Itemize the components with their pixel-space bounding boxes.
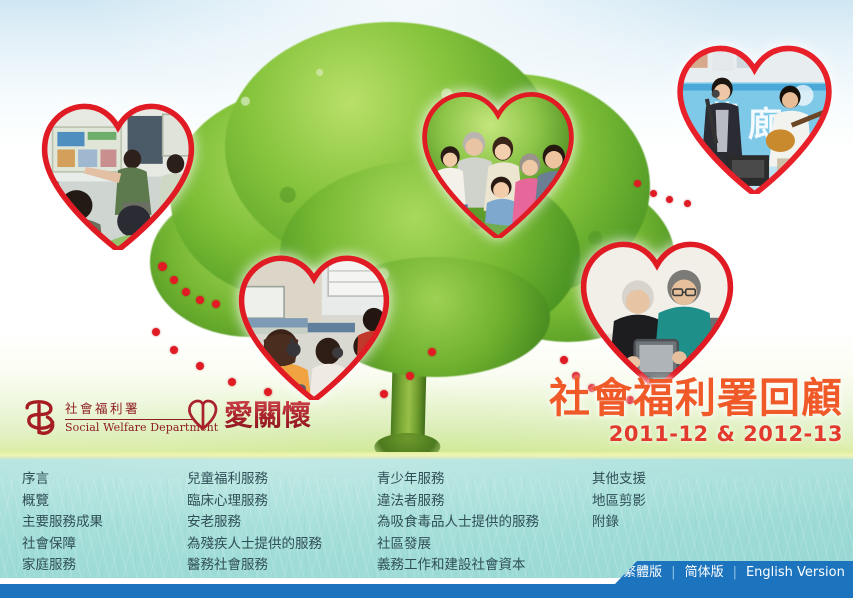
nav-link-preface[interactable]: 序言	[22, 469, 187, 491]
nav-link-community-development[interactable]: 社區發展	[377, 534, 592, 556]
heart-photo-computer-class[interactable]	[234, 252, 394, 400]
heart-frame-icon	[38, 100, 198, 250]
decor-dot	[152, 328, 160, 336]
decor-dot	[264, 388, 272, 396]
page-root: 藝 廊	[0, 0, 853, 598]
nav-link-family-services[interactable]: 家庭服務	[22, 555, 187, 577]
nav-link-youth-services[interactable]: 青少年服務	[377, 469, 592, 491]
hero-banner: 藝 廊	[0, 0, 853, 458]
page-title-block: 社會福利署回顧 2011-12 & 2012-13	[549, 378, 843, 446]
decor-dot	[428, 348, 436, 356]
decor-dot	[228, 378, 236, 386]
nav-link-district-gallery[interactable]: 地區剪影	[592, 491, 772, 513]
decor-dot	[380, 390, 388, 398]
decor-dot	[196, 362, 204, 370]
decor-dot	[158, 262, 167, 271]
page-title-years: 2011-12 & 2012-13	[549, 422, 843, 446]
decor-dot	[560, 356, 568, 364]
nav-column-4: 其他支援 地區剪影 附錄	[592, 469, 772, 577]
nav-link-social-security[interactable]: 社會保障	[22, 534, 187, 556]
care-logo-text: 愛關懷	[224, 401, 311, 430]
heart-outline-icon	[186, 398, 220, 432]
nav-link-medical-social[interactable]: 醫務社會服務	[187, 555, 377, 577]
swd-logo-mark-icon	[22, 400, 56, 436]
nav-link-child-welfare[interactable]: 兒童福利服務	[187, 469, 377, 491]
nav-link-elderly-services[interactable]: 安老服務	[187, 512, 377, 534]
nav-link-drug-abuse-services[interactable]: 為吸食毒品人士提供的服務	[377, 512, 592, 534]
nav-column-2: 兒童福利服務 臨床心理服務 安老服務 為殘疾人士提供的服務 醫務社會服務	[187, 469, 377, 577]
decor-dot	[196, 296, 204, 304]
page-title: 社會福利署回顧	[549, 378, 843, 419]
decor-dot	[684, 200, 691, 207]
heart-photo-youth-band[interactable]: 藝 廊	[672, 42, 837, 194]
decor-dot	[212, 300, 220, 308]
heart-photo-community-talk[interactable]	[38, 100, 198, 250]
nav-link-overview[interactable]: 概覽	[22, 491, 187, 513]
decor-dot	[666, 196, 673, 203]
nav-link-key-achievements[interactable]: 主要服務成果	[22, 512, 187, 534]
nav-divider	[0, 452, 853, 459]
nav-section: 序言 概覽 主要服務成果 社會保障 家庭服務 兒童福利服務 臨床心理服務 安老服…	[0, 459, 853, 578]
decor-dot	[650, 190, 657, 197]
decor-dot	[170, 346, 178, 354]
nav-columns: 序言 概覽 主要服務成果 社會保障 家庭服務 兒童福利服務 臨床心理服務 安老服…	[0, 459, 853, 577]
nav-link-appendix[interactable]: 附錄	[592, 512, 772, 534]
language-english[interactable]: English Version	[737, 566, 853, 579]
language-simplified-chinese[interactable]: 简体版	[676, 566, 733, 579]
nav-link-volunteer-social-capital[interactable]: 義務工作和建設社會資本	[377, 555, 592, 577]
decor-dot	[406, 372, 414, 380]
nav-column-1: 序言 概覽 主要服務成果 社會保障 家庭服務	[22, 469, 187, 577]
care-logo[interactable]: 愛關懷	[186, 398, 311, 432]
heart-photo-elderly-tablet[interactable]	[576, 238, 738, 388]
nav-link-clinical-psychology[interactable]: 臨床心理服務	[187, 491, 377, 513]
heart-frame-icon: 藝 廊	[672, 42, 837, 194]
heart-photo-family[interactable]	[418, 88, 578, 238]
heart-frame-icon	[234, 252, 394, 400]
nav-link-other-support[interactable]: 其他支援	[592, 469, 772, 491]
decor-dot	[182, 288, 190, 296]
nav-column-3: 青少年服務 違法者服務 為吸食毒品人士提供的服務 社區發展 義務工作和建設社會資…	[377, 469, 592, 577]
swd-logo-rule	[65, 419, 193, 420]
decor-dot	[170, 276, 178, 284]
nav-link-disability-services[interactable]: 為殘疾人士提供的服務	[187, 534, 377, 556]
heart-frame-icon	[418, 88, 578, 238]
language-bar: 繁體版 | 简体版 | English Version	[615, 561, 853, 584]
nav-link-offender-services[interactable]: 違法者服務	[377, 491, 592, 513]
bottom-bar	[0, 584, 853, 598]
decor-dot	[634, 180, 641, 187]
heart-frame-icon	[576, 238, 738, 388]
